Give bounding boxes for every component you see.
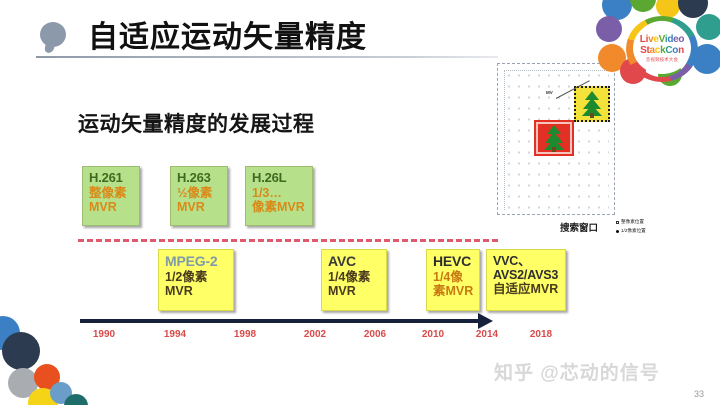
codec-card-mpeg2: MPEG-2 1/2像素 MVR: [158, 249, 234, 311]
livevideostackcon-logo: LiveVideo StackCon 音视频技术大会: [600, 0, 720, 82]
page-title: 自适应运动矢量精度: [88, 12, 367, 56]
section-subtitle: 运动矢量精度的发展过程: [78, 108, 315, 138]
legend-item: 整像素位置: [616, 218, 646, 227]
timeline-year: 1998: [234, 329, 256, 340]
legend-label: 1/2像素位置: [621, 227, 646, 236]
codec-card-line2: 1/3…: [252, 186, 307, 200]
codec-card-line2: 整像素: [89, 186, 134, 200]
timeline-year: 2018: [530, 329, 552, 340]
logo-bubble: [630, 0, 656, 12]
codec-card-line2: AVS2/AVS3: [493, 268, 560, 282]
diagram-caption: 搜索窗口: [560, 220, 598, 234]
timeline-arrow-icon: [478, 313, 493, 329]
codec-card-h263: H.263 ½像素 MVR: [170, 166, 228, 226]
legend-label: 整像素位置: [621, 218, 644, 227]
codec-card-line2: 1/2像素: [165, 270, 228, 284]
watermark: 知乎 @芯动的信号: [494, 358, 660, 385]
diagram-legend: 整像素位置 1/2像素位置: [616, 218, 646, 235]
codec-card-h26l: H.26L 1/3… 像素MVR: [245, 166, 313, 226]
search-window-diagram: MV: [497, 63, 615, 215]
speech-bubble-icon: [40, 22, 66, 47]
logo-line3: 音视频技术大会: [646, 57, 678, 63]
timeline-year: 2010: [422, 329, 444, 340]
timeline-year: 2006: [364, 329, 386, 340]
codec-card-title: H.26L: [252, 171, 307, 186]
tree-icon: [580, 90, 604, 118]
codec-card-line2: 1/4像素: [328, 270, 381, 284]
deco-bubble: [2, 332, 40, 370]
reference-block-yellow: [574, 86, 610, 122]
codec-card-line3: 自适应MVR: [493, 282, 560, 296]
codec-card-line3: MVR: [89, 200, 134, 214]
filled-dot-icon: [616, 230, 619, 233]
codec-card-h261: H.261 整像素 MVR: [82, 166, 140, 226]
codec-card-title: VVC、: [493, 254, 560, 268]
codec-card-line3: MVR: [328, 284, 381, 298]
slide-canvas: 自适应运动矢量精度 运动矢量精度的发展过程 H.261 整像素 MVR H.26…: [0, 0, 720, 405]
timeline-year: 1994: [164, 329, 186, 340]
codec-card-line3: 像素MVR: [252, 200, 307, 214]
deco-bubble: [64, 394, 88, 405]
codec-card-line3: 素MVR: [433, 284, 474, 298]
tree-icon: [542, 124, 566, 152]
logo-line1: LiveVideo: [640, 34, 684, 45]
codec-card-vvc: VVC、 AVS2/AVS3 自适应MVR: [486, 249, 566, 311]
codec-card-avc: AVC 1/4像素 MVR: [321, 249, 387, 311]
logo-bubble: [696, 14, 720, 40]
timeline-year: 2014: [476, 329, 498, 340]
codec-card-title: H.261: [89, 171, 134, 186]
codec-card-line3: MVR: [165, 284, 228, 298]
codec-card-hevc: HEVC 1/4像 素MVR: [426, 249, 480, 311]
logo-bubble: [596, 16, 622, 42]
page-number: 33: [694, 389, 704, 399]
current-block-red: [534, 120, 574, 156]
codec-card-title: AVC: [328, 254, 381, 270]
codec-card-title: HEVC: [433, 254, 474, 270]
codec-card-line2: 1/4像: [433, 270, 474, 284]
codec-card-line2: ½像素: [177, 186, 222, 200]
logo-wordmark: LiveVideo StackCon 音视频技术大会: [633, 22, 691, 74]
codec-card-title: H.263: [177, 171, 222, 186]
decorative-bubbles: [0, 320, 160, 405]
logo-line2: StackCon: [640, 45, 684, 56]
codec-card-title: MPEG-2: [165, 254, 228, 270]
codec-card-line3: MVR: [177, 200, 222, 214]
open-square-icon: [616, 221, 619, 224]
legend-item: 1/2像素位置: [616, 227, 646, 236]
era-separator-line: [78, 239, 498, 242]
header-divider: [36, 56, 498, 58]
timeline-year: 2002: [304, 329, 326, 340]
mv-label: MV: [546, 90, 553, 95]
